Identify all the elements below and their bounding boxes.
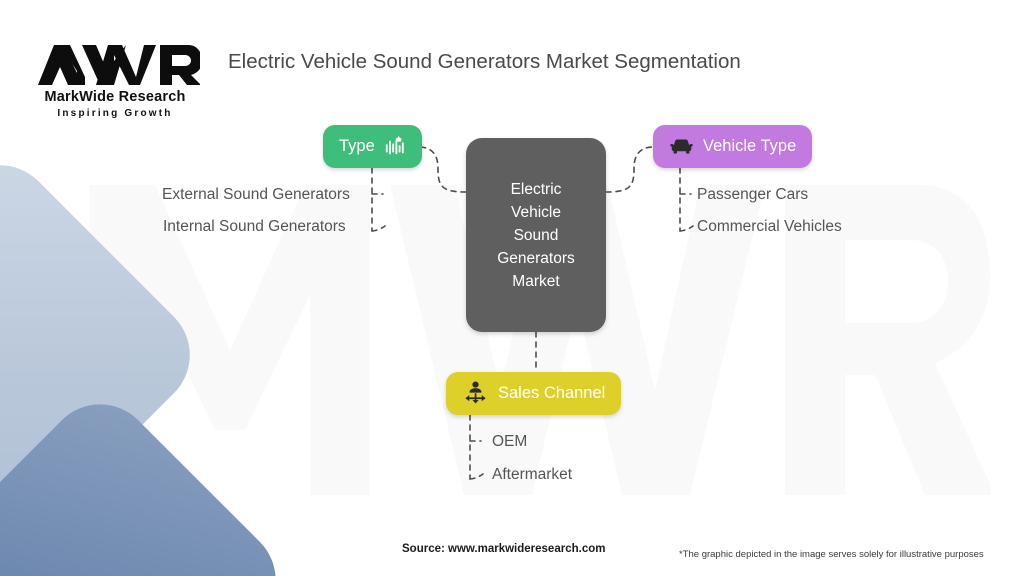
distribution-icon [462,380,489,407]
leaf-type-external: External Sound Generators [162,186,350,204]
leaf-type-internal: Internal Sound Generators [163,218,346,236]
branch-label-sales-channel: Sales Channel [498,384,605,403]
branch-label-type: Type [339,137,375,156]
center-node: ElectricVehicleSoundGeneratorsMarket [466,138,606,332]
leaf-vehicle-passenger-cars: Passenger Cars [697,186,808,204]
infographic-canvas: MarkWide Research Inspiring Growth Elect… [0,0,1024,576]
source-note: Source: www.markwideresearch.com [402,543,605,555]
disclaimer-note: *The graphic depicted in the image serve… [679,549,984,560]
branch-badge-type[interactable]: Type [323,125,422,168]
branch-badge-vehicle-type[interactable]: Vehicle Type [653,125,812,168]
leaf-vehicle-commercial-vehicles: Commercial Vehicles [697,218,842,236]
sound-wave-icon [384,136,406,158]
branch-badge-sales-channel[interactable]: Sales Channel [446,372,621,415]
center-node-label: ElectricVehicleSoundGeneratorsMarket [497,178,575,293]
car-icon [669,134,694,159]
branch-label-vehicle-type: Vehicle Type [703,137,796,156]
leaf-sales-oem: OEM [492,433,527,451]
leaf-sales-aftermarket: Aftermarket [492,466,572,484]
